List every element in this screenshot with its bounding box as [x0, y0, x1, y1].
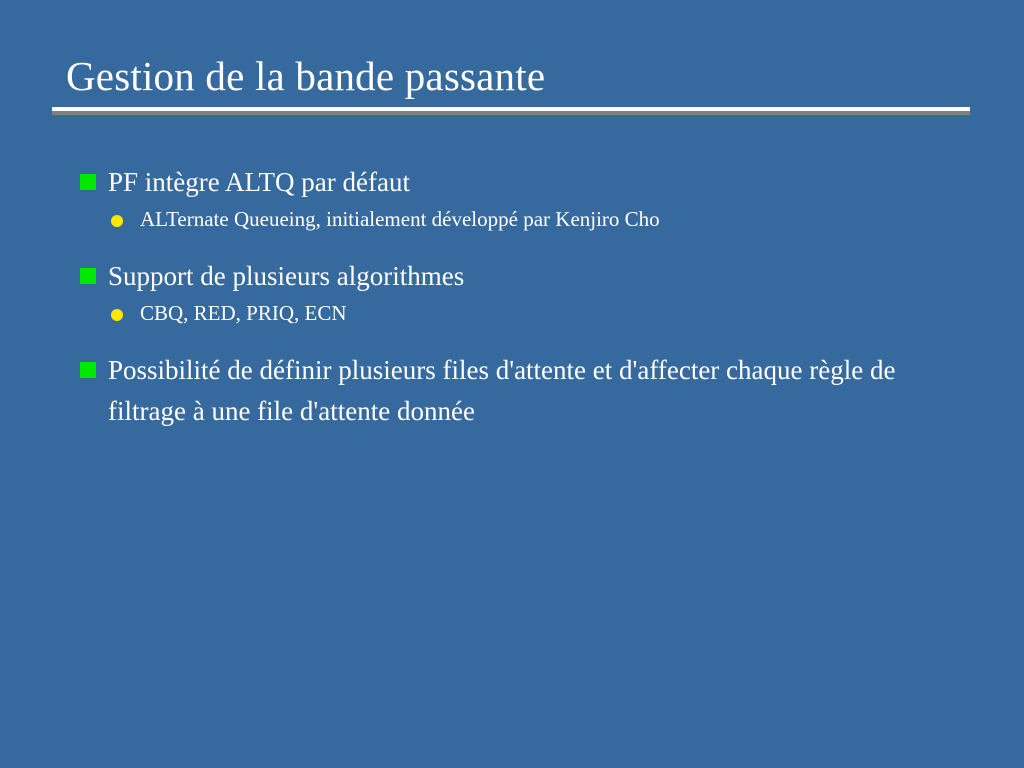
list-item: Possibilité de définir plusieurs files d…	[78, 350, 978, 432]
yellow-dot-bullet-icon	[111, 215, 123, 227]
title-divider	[52, 107, 970, 115]
list-item: CBQ, RED, PRIQ, ECN	[78, 298, 978, 328]
page-title: Gestion de la bande passante	[52, 50, 970, 102]
list-item: PF intègre ALTQ par défaut	[78, 162, 978, 203]
slide-body: PF intègre ALTQ par défaut ALTernate Que…	[78, 162, 978, 432]
yellow-dot-bullet-icon	[111, 309, 123, 321]
green-square-bullet-icon	[80, 268, 96, 284]
list-item: ALTernate Queueing, initialement dévelop…	[78, 204, 978, 234]
bullet-group: Possibilité de définir plusieurs files d…	[78, 350, 978, 432]
green-square-bullet-icon	[80, 362, 96, 378]
list-item-label: ALTernate Queueing, initialement dévelop…	[140, 204, 978, 234]
title-divider-shadow	[52, 111, 970, 115]
list-item-label: Possibilité de définir plusieurs files d…	[108, 350, 978, 432]
list-item-label: CBQ, RED, PRIQ, ECN	[140, 298, 978, 328]
list-item-label: Support de plusieurs algorithmes	[108, 256, 978, 297]
list-item: Support de plusieurs algorithmes	[78, 256, 978, 297]
green-square-bullet-icon	[80, 174, 96, 190]
list-item-label: PF intègre ALTQ par défaut	[108, 162, 978, 203]
presentation-slide: Gestion de la bande passante PF intègre …	[0, 0, 1024, 768]
slide-title-block: Gestion de la bande passante	[52, 50, 970, 115]
bullet-group: PF intègre ALTQ par défaut ALTernate Que…	[78, 162, 978, 234]
bullet-group: Support de plusieurs algorithmes CBQ, RE…	[78, 256, 978, 328]
